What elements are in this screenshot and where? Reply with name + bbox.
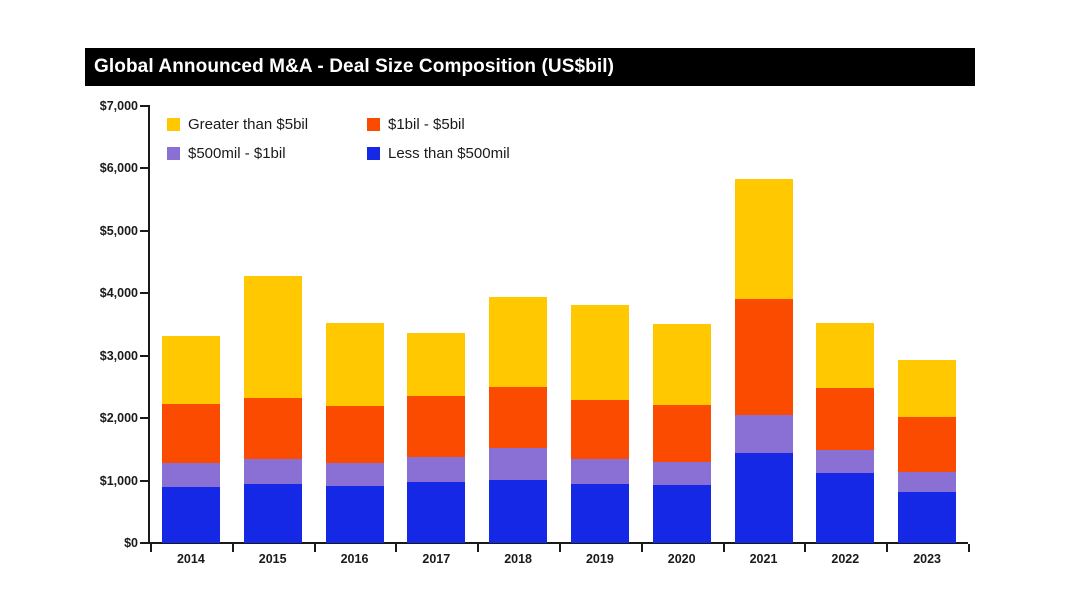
x-axis-tick [314, 544, 316, 552]
x-axis-tick [723, 544, 725, 552]
y-axis-tick-label: $0 [66, 536, 138, 550]
bar-segment-gt5[interactable] [653, 324, 711, 405]
bar-segment-gt5[interactable] [898, 360, 956, 417]
bar-stack-2023[interactable] [898, 360, 956, 543]
y-axis-tick-label: $5,000 [66, 224, 138, 238]
bar-segment-1to5[interactable] [653, 405, 711, 462]
bar-segment-lt500[interactable] [653, 485, 711, 543]
bar-segment-gt5[interactable] [571, 305, 629, 400]
bar-segment-gt5[interactable] [162, 336, 220, 404]
chart-page: Global Announced M&A - Deal Size Composi… [0, 0, 1080, 608]
legend-swatch-icon [367, 147, 380, 160]
bar-stack-2014[interactable] [162, 336, 220, 543]
bar-segment-lt500[interactable] [816, 473, 874, 543]
bar-segment-1to5[interactable] [162, 404, 220, 463]
y-axis-tick-label: $1,000 [66, 474, 138, 488]
chart-title-bar: Global Announced M&A - Deal Size Composi… [85, 48, 975, 86]
x-axis-tick-label: 2023 [897, 552, 957, 566]
y-axis-labels: $0$1,000$2,000$3,000$4,000$5,000$6,000$7… [60, 0, 138, 608]
bar-stack-2021[interactable] [735, 179, 793, 543]
x-axis-tick-label: 2020 [652, 552, 712, 566]
x-axis-tick [232, 544, 234, 552]
bar-stack-2015[interactable] [244, 276, 302, 543]
bar-segment-500to1[interactable] [162, 463, 220, 487]
bar-segment-gt5[interactable] [244, 276, 302, 398]
bar-segment-500to1[interactable] [407, 457, 465, 482]
legend-swatch-icon [167, 147, 180, 160]
bar-segment-1to5[interactable] [735, 299, 793, 415]
x-axis-tick-label: 2022 [815, 552, 875, 566]
bar-stack-2016[interactable] [326, 323, 384, 543]
chart-canvas: Global Announced M&A - Deal Size Composi… [0, 0, 1080, 608]
bar-segment-lt500[interactable] [489, 480, 547, 543]
bar-segment-1to5[interactable] [489, 387, 547, 448]
bar-segment-lt500[interactable] [162, 487, 220, 543]
bar-segment-500to1[interactable] [244, 459, 302, 484]
bar-segment-500to1[interactable] [653, 462, 711, 485]
x-axis-tick [559, 544, 561, 552]
y-axis-tick-label: $7,000 [66, 99, 138, 113]
bar-segment-gt5[interactable] [735, 179, 793, 299]
x-axis-tick [804, 544, 806, 552]
bar-segment-500to1[interactable] [735, 415, 793, 453]
y-axis-tick [140, 417, 149, 419]
legend-row: $500mil - $1bil Less than $500mil [167, 139, 587, 168]
legend-item-gt5[interactable]: Greater than $5bil [167, 116, 367, 133]
x-axis-tick-label: 2015 [243, 552, 303, 566]
legend-label: $500mil - $1bil [188, 145, 286, 162]
page-title: Global Announced M&A - Deal Size Composi… [85, 56, 614, 78]
bar-stack-2017[interactable] [407, 333, 465, 543]
x-axis-tick [477, 544, 479, 552]
bar-segment-lt500[interactable] [244, 484, 302, 543]
legend-item-lt500[interactable]: Less than $500mil [367, 145, 510, 162]
y-axis-tick [140, 542, 149, 544]
legend-swatch-icon [367, 118, 380, 131]
y-axis-tick-label: $4,000 [66, 286, 138, 300]
bar-segment-1to5[interactable] [244, 398, 302, 459]
bar-segment-500to1[interactable] [489, 448, 547, 480]
bar-stack-2018[interactable] [489, 297, 547, 543]
bar-segment-500to1[interactable] [571, 459, 629, 484]
bar-segment-gt5[interactable] [326, 323, 384, 406]
y-axis-tick [140, 292, 149, 294]
bar-stack-2022[interactable] [816, 323, 874, 543]
bar-segment-lt500[interactable] [326, 486, 384, 543]
bar-segment-1to5[interactable] [898, 417, 956, 472]
bar-segment-1to5[interactable] [407, 396, 465, 457]
bar-segment-1to5[interactable] [571, 400, 629, 459]
x-axis-tick [150, 544, 152, 552]
y-axis-tick [140, 480, 149, 482]
legend-item-1to5[interactable]: $1bil - $5bil [367, 116, 465, 133]
x-axis-tick [968, 544, 970, 552]
y-axis-tick-label: $3,000 [66, 349, 138, 363]
legend-item-500to1[interactable]: $500mil - $1bil [167, 145, 367, 162]
x-axis-tick [886, 544, 888, 552]
x-axis-tick-label: 2014 [161, 552, 221, 566]
bar-segment-gt5[interactable] [407, 333, 465, 396]
y-axis-tick [140, 230, 149, 232]
bar-segment-1to5[interactable] [326, 406, 384, 463]
legend-row: Greater than $5bil $1bil - $5bil [167, 110, 587, 139]
bar-segment-lt500[interactable] [571, 484, 629, 543]
legend-label: Greater than $5bil [188, 116, 308, 133]
x-axis-tick-label: 2021 [734, 552, 794, 566]
bar-segment-lt500[interactable] [735, 453, 793, 543]
y-axis-tick [140, 167, 149, 169]
x-axis-tick-label: 2018 [488, 552, 548, 566]
chart-legend: Greater than $5bil $1bil - $5bil $500mil… [167, 110, 587, 168]
bar-segment-lt500[interactable] [898, 492, 956, 543]
x-axis-tick-label: 2016 [325, 552, 385, 566]
bar-segment-500to1[interactable] [898, 472, 956, 492]
legend-label: $1bil - $5bil [388, 116, 465, 133]
x-axis-tick [395, 544, 397, 552]
y-axis-tick [140, 355, 149, 357]
bar-stack-2020[interactable] [653, 324, 711, 543]
x-axis-tick-label: 2019 [570, 552, 630, 566]
bar-segment-1to5[interactable] [816, 388, 874, 450]
legend-swatch-icon [167, 118, 180, 131]
y-axis-tick [140, 105, 149, 107]
bar-segment-gt5[interactable] [816, 323, 874, 388]
x-axis-tick-label: 2017 [406, 552, 466, 566]
y-axis-tick-label: $6,000 [66, 161, 138, 175]
y-axis-line [148, 105, 150, 544]
bar-segment-500to1[interactable] [816, 450, 874, 473]
bar-segment-500to1[interactable] [326, 463, 384, 486]
bar-segment-gt5[interactable] [489, 297, 547, 387]
bar-segment-lt500[interactable] [407, 482, 465, 543]
legend-label: Less than $500mil [388, 145, 510, 162]
y-axis-tick-label: $2,000 [66, 411, 138, 425]
x-axis-tick [641, 544, 643, 552]
bar-stack-2019[interactable] [571, 305, 629, 543]
